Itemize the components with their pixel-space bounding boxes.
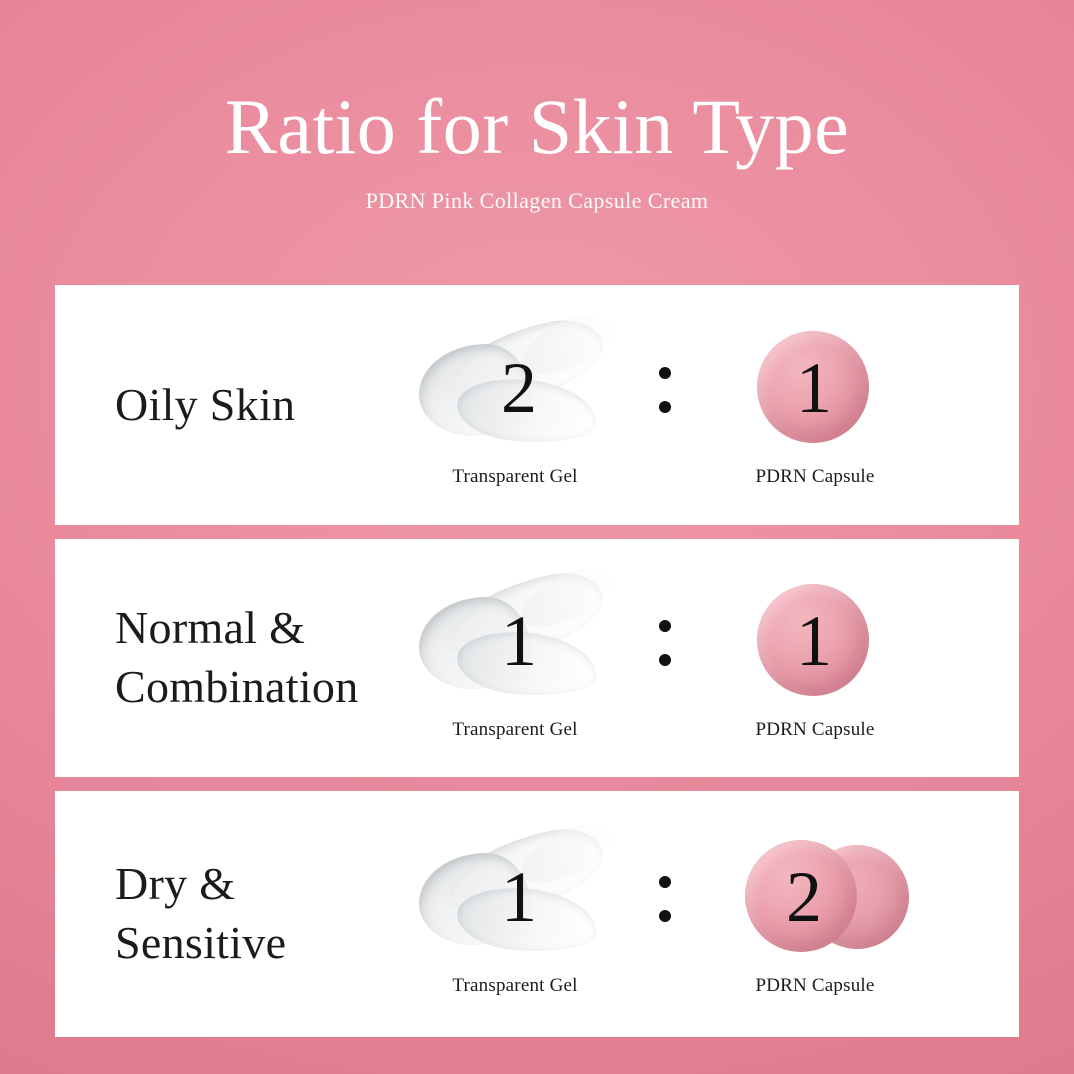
capsule-ratio-value: 1 (796, 605, 832, 677)
skin-type-label: Oily Skin (55, 376, 410, 435)
colon-dot-top (659, 620, 671, 632)
gel-caption: Transparent Gel (452, 466, 577, 488)
capsule-ratio-value: 2 (786, 861, 822, 933)
capsule-caption: PDRN Capsule (755, 975, 874, 997)
colon-dot-bottom (659, 401, 671, 413)
skin-type-line-2: Combination (115, 658, 410, 717)
ratio-colon (630, 876, 700, 922)
colon-dot-bottom (659, 654, 671, 666)
ratio-colon (630, 367, 700, 413)
gel-visual: 2 (405, 322, 625, 452)
gel-visual: 1 (405, 575, 625, 705)
ratio-colon (630, 620, 700, 666)
gel-caption: Transparent Gel (452, 719, 577, 741)
gel-group: 1 Transparent Gel (400, 791, 630, 1037)
gel-group: 2 Transparent Gel (400, 285, 630, 525)
table-row: Oily Skin 2 Transparent Gel (55, 285, 1019, 525)
gel-ratio-value: 1 (501, 861, 537, 933)
capsule-visual: 2 (705, 831, 925, 961)
table-row: Normal & Combination 1 Transparent Gel (55, 539, 1019, 777)
capsule-group: 1 PDRN Capsule (700, 539, 930, 777)
page-title: Ratio for Skin Type (0, 0, 1074, 168)
skin-type-line-1: Dry & (115, 855, 410, 914)
gel-ratio-value: 2 (501, 352, 537, 424)
skin-type-label: Normal & Combination (55, 599, 410, 717)
capsule-visual: 1 (705, 575, 925, 705)
skin-type-label: Dry & Sensitive (55, 855, 410, 973)
skin-type-line-1: Normal & (115, 599, 410, 658)
capsule-caption: PDRN Capsule (755, 719, 874, 741)
poster-root: Ratio for Skin Type PDRN Pink Collagen C… (0, 0, 1074, 1074)
gel-caption: Transparent Gel (452, 975, 577, 997)
capsule-group: 2 PDRN Capsule (700, 791, 930, 1037)
gel-ratio-value: 1 (501, 605, 537, 677)
capsule-group: 1 PDRN Capsule (700, 285, 930, 525)
capsule-ratio-value: 1 (796, 352, 832, 424)
page-subtitle: PDRN Pink Collagen Capsule Cream (0, 168, 1074, 214)
colon-dot-top (659, 367, 671, 379)
capsule-caption: PDRN Capsule (755, 466, 874, 488)
skin-type-line-2: Sensitive (115, 914, 410, 973)
gel-group: 1 Transparent Gel (400, 539, 630, 777)
header: Ratio for Skin Type PDRN Pink Collagen C… (0, 0, 1074, 214)
gel-visual: 1 (405, 831, 625, 961)
table-row: Dry & Sensitive 1 Transparent Gel (55, 791, 1019, 1037)
colon-dot-bottom (659, 910, 671, 922)
ratio-rows: Oily Skin 2 Transparent Gel (55, 285, 1019, 1051)
colon-dot-top (659, 876, 671, 888)
capsule-visual: 1 (705, 322, 925, 452)
